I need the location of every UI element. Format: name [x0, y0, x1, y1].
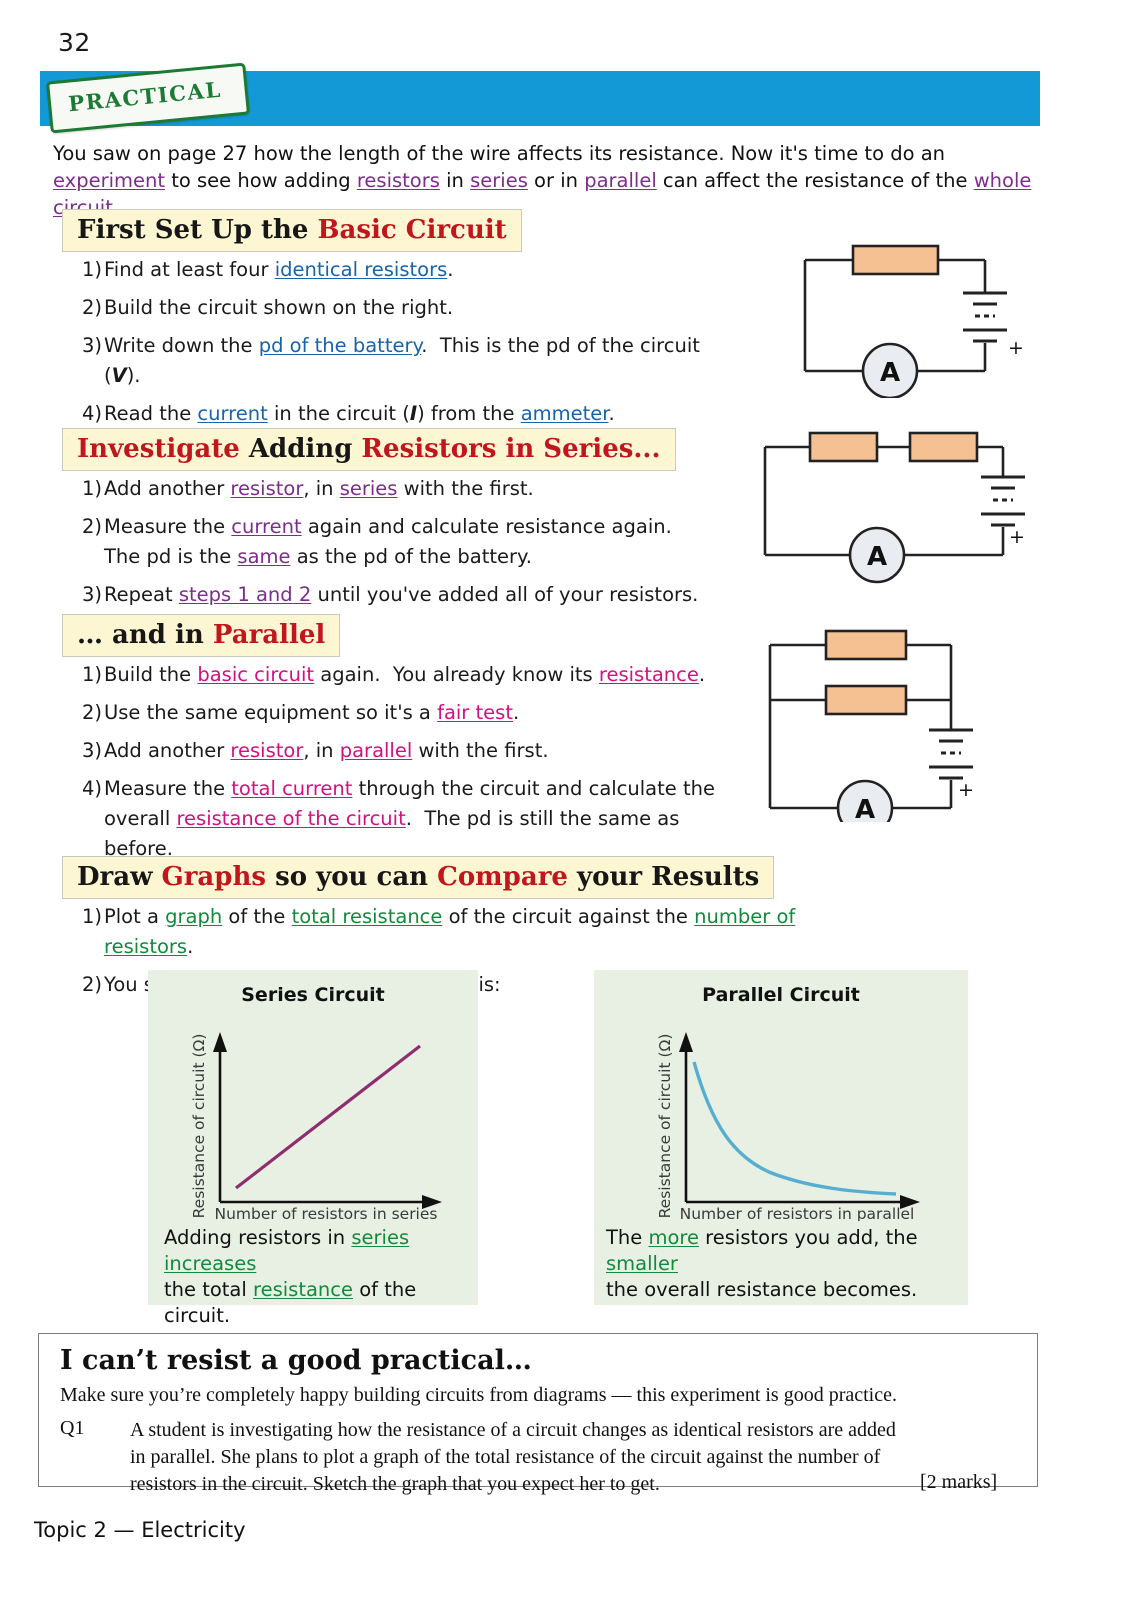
- battery-plus-label: +: [958, 779, 974, 801]
- step-number: 1): [60, 474, 104, 504]
- chart-xlabel-parallel: Number of resistors in parallel: [680, 1205, 915, 1221]
- link-parallel[interactable]: parallel: [584, 169, 657, 192]
- steps-series: 1) Add another resistor, in series with …: [60, 474, 700, 618]
- link-total-resistance[interactable]: total resistance: [292, 905, 443, 928]
- link-same[interactable]: same: [237, 545, 290, 568]
- list-item: 3) Repeat steps 1 and 2 until you've add…: [60, 580, 700, 610]
- step-text: Read the current in the circuit (I) from…: [104, 399, 710, 429]
- step-number: 3): [60, 331, 104, 391]
- step-text: Add another resistor, in parallel with t…: [104, 736, 740, 766]
- link-resistor[interactable]: resistor: [230, 739, 303, 762]
- chart-caption-series: Adding resistors in series increasesthe …: [148, 1221, 478, 1329]
- step-text: Use the same equipment so it's a fair te…: [104, 698, 740, 728]
- heading-4-r1: Graphs: [162, 862, 266, 892]
- chart-xlabel-series: Number of resistors in series: [215, 1205, 438, 1221]
- step-text: Repeat steps 1 and 2 until you've added …: [104, 580, 700, 610]
- intro-text-5: can affect the resistance of the: [657, 169, 974, 192]
- step-number: 2): [60, 970, 104, 1000]
- step-number: 2): [60, 698, 104, 728]
- chart-series-svg: Resistance of circuit (Ω) Number of resi…: [148, 1006, 478, 1221]
- link-fair-test[interactable]: fair test: [437, 701, 513, 724]
- link-identical-resistors[interactable]: identical resistors: [275, 258, 448, 281]
- heading-1-red: Basic Circuit: [318, 215, 507, 245]
- ammeter-label: A: [880, 358, 900, 388]
- heading-2-red2: Resistors in Series...: [361, 434, 660, 464]
- step-text: Write down the pd of the battery. This i…: [104, 331, 710, 391]
- step-text: Find at least four identical resistors.: [104, 255, 710, 285]
- link-series[interactable]: series: [470, 169, 528, 192]
- step-number: 2): [60, 293, 104, 323]
- step-text: Measure the current again and calculate …: [104, 512, 700, 572]
- heading-3-red: Parallel: [213, 620, 325, 650]
- link-smaller[interactable]: smaller: [606, 1252, 678, 1275]
- chart-caption-parallel: The more resistors you add, the smallert…: [594, 1221, 968, 1303]
- link-ammeter[interactable]: ammeter: [521, 402, 609, 425]
- battery-plus-label: +: [1009, 526, 1025, 548]
- list-item: 3) Write down the pd of the battery. Thi…: [60, 331, 710, 391]
- question-text: A student is investigating how the resis…: [130, 1417, 900, 1498]
- battery-symbol: [929, 730, 973, 778]
- link-total-current[interactable]: total current: [231, 777, 352, 800]
- heading-graphs: Draw Graphs so you can Compare your Resu…: [62, 856, 774, 899]
- resistor-symbol-2: [826, 686, 906, 714]
- link-current[interactable]: current: [231, 515, 301, 538]
- list-item: 1) Build the basic circuit again. You al…: [60, 660, 740, 690]
- page-title: Investigating Circuits: [300, 0, 763, 55]
- heading-series: Investigate Adding Resistors in Series..…: [62, 428, 676, 471]
- list-item: 2) Measure the current again and calcula…: [60, 512, 700, 572]
- parallel-data-curve: [694, 1062, 896, 1194]
- resistor-symbol: [853, 246, 938, 274]
- step-number: 2): [60, 512, 104, 572]
- link-resistance[interactable]: resistance: [599, 663, 699, 686]
- question-marks: [2 marks]: [920, 1471, 997, 1494]
- circuit-diagram-series: + A: [755, 425, 1025, 590]
- heading-4-p3: your Results: [568, 862, 759, 892]
- step-number: 1): [60, 660, 104, 690]
- circuit-diagram-parallel: + A: [758, 612, 1023, 827]
- series-data-line: [236, 1046, 420, 1188]
- step-number: 3): [60, 736, 104, 766]
- resistor-symbol-2: [910, 433, 977, 461]
- link-experiment[interactable]: experiment: [53, 169, 165, 192]
- intro-text-2: to see how adding: [165, 169, 357, 192]
- step-text: Build the circuit shown on the right.: [104, 293, 710, 323]
- link-graph[interactable]: graph: [165, 905, 222, 928]
- link-series[interactable]: series: [340, 477, 398, 500]
- heading-4-p1: Draw: [77, 862, 162, 892]
- chart-panel-series: Series Circuit Resistance of circuit (Ω)…: [148, 970, 478, 1305]
- list-item: 1) Add another resistor, in series with …: [60, 474, 700, 504]
- link-basic-circuit[interactable]: basic circuit: [197, 663, 314, 686]
- step-number: 1): [60, 902, 104, 962]
- step-text: Build the basic circuit again. You alrea…: [104, 660, 740, 690]
- step-text: Add another resistor, in series with the…: [104, 474, 700, 504]
- battery-symbol: [981, 477, 1025, 525]
- heading-4-r2: Compare: [437, 862, 568, 892]
- link-current[interactable]: current: [197, 402, 267, 425]
- heading-1-black: First Set Up the: [77, 215, 318, 245]
- chart-panel-parallel: Parallel Circuit Resistance of circuit (…: [594, 970, 968, 1305]
- step-number: 4): [60, 774, 104, 864]
- list-item: 4) Measure the total current through the…: [60, 774, 740, 864]
- link-series-increases[interactable]: series increases: [164, 1226, 409, 1275]
- intro-text-1: You saw on page 27 how the length of the…: [53, 142, 945, 165]
- heading-parallel: … and in Parallel: [62, 614, 340, 657]
- heading-basic-circuit: First Set Up the Basic Circuit: [62, 209, 522, 252]
- heading-4-p2: so you can: [266, 862, 437, 892]
- list-item: 3) Add another resistor, in parallel wit…: [60, 736, 740, 766]
- step-number: 1): [60, 255, 104, 285]
- link-parallel[interactable]: parallel: [340, 739, 413, 762]
- link-resistor[interactable]: resistor: [230, 477, 303, 500]
- link-steps-1-and-2[interactable]: steps 1 and 2: [179, 583, 311, 606]
- exam-box-title: I can’t resist a good practical…: [60, 1345, 532, 1376]
- resistor-symbol-1: [826, 631, 906, 659]
- chart-parallel-svg: Resistance of circuit (Ω) Number of resi…: [594, 1006, 968, 1221]
- resistor-symbol-1: [810, 433, 877, 461]
- circuit-diagram-basic: + A: [795, 238, 1040, 403]
- link-more[interactable]: more: [648, 1226, 699, 1249]
- chart-title-series: Series Circuit: [148, 970, 478, 1006]
- intro-text-4: or in: [528, 169, 584, 192]
- step-number: 3): [60, 580, 104, 610]
- chart-ylabel-parallel: Resistance of circuit (Ω): [656, 1034, 674, 1219]
- step-text: Plot a graph of the total resistance of …: [104, 902, 890, 962]
- ammeter-label: A: [867, 542, 887, 572]
- question-label: Q1: [60, 1417, 84, 1440]
- list-item: 1) Find at least four identical resistor…: [60, 255, 710, 285]
- list-item: 1) Plot a graph of the total resistance …: [60, 902, 890, 962]
- step-number: 4): [60, 399, 104, 429]
- intro-text-3: in: [440, 169, 470, 192]
- list-item: 4) Read the current in the circuit (I) f…: [60, 399, 710, 429]
- heading-3-black: … and in: [77, 620, 213, 650]
- link-resistance-of-circuit[interactable]: resistance of the circuit: [176, 807, 405, 830]
- ammeter-label: A: [855, 795, 875, 822]
- page-footer: Topic 2 — Electricity: [34, 1518, 246, 1542]
- heading-2-black: Adding: [249, 434, 362, 464]
- link-pd-of-battery[interactable]: pd of the battery: [259, 334, 422, 357]
- step-text: Measure the total current through the ci…: [104, 774, 740, 864]
- battery-symbol: [963, 293, 1007, 341]
- link-resistors[interactable]: resistors: [357, 169, 440, 192]
- heading-2-red1: Investigate: [77, 434, 249, 464]
- battery-plus-label: +: [1008, 337, 1024, 359]
- list-item: 2) Use the same equipment so it's a fair…: [60, 698, 740, 728]
- page-number: 32: [58, 28, 91, 57]
- list-item: 2) Build the circuit shown on the right.: [60, 293, 710, 323]
- chart-title-parallel: Parallel Circuit: [594, 970, 968, 1006]
- textbook-page: 32 Investigating Circuits PRACTICAL You …: [0, 0, 1131, 1600]
- link-resistance[interactable]: resistance: [253, 1278, 353, 1301]
- exam-box-subtitle: Make sure you’re completely happy buildi…: [60, 1384, 1020, 1407]
- chart-ylabel-series: Resistance of circuit (Ω): [190, 1034, 208, 1219]
